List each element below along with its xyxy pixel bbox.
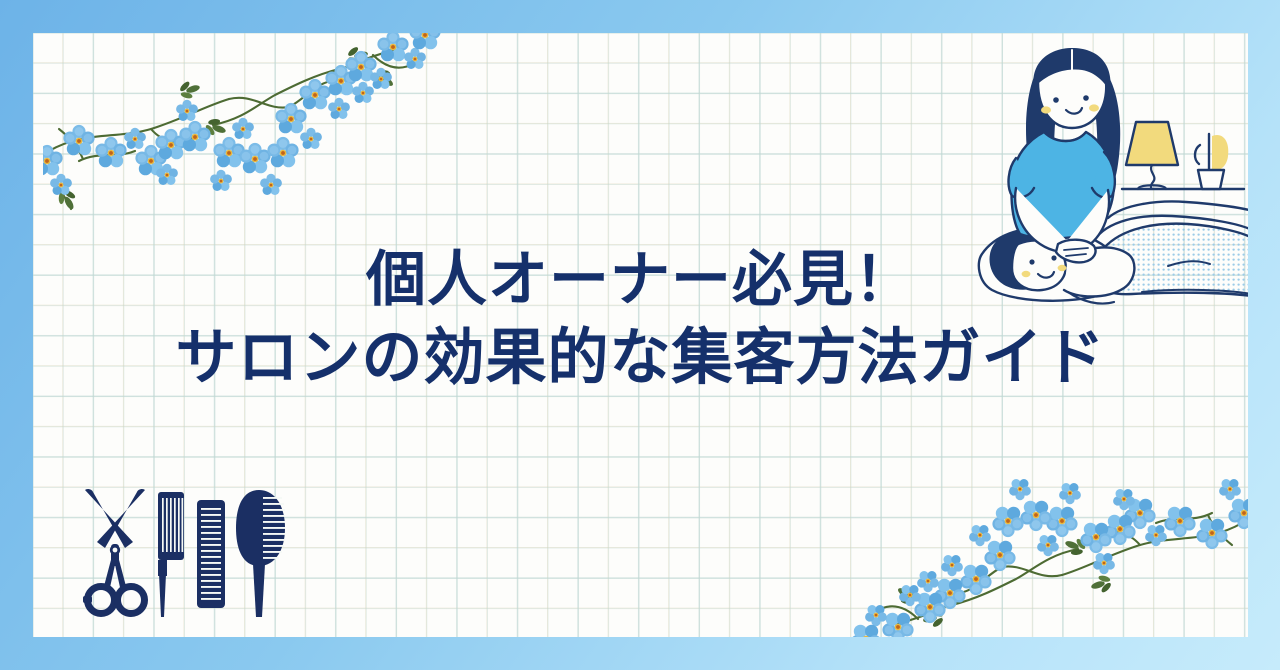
scissors-icon [83,489,145,614]
title-line-2: サロンの効果的な集客方法ガイド [33,319,1248,397]
banner-title: 個人オーナー必見！ サロンの効果的な集客方法ガイド [33,241,1248,397]
salon-guide-banner: 個人オーナー必見！ サロンの効果的な集客方法ガイド [0,0,1280,670]
salon-tools-icon [73,484,298,619]
wide-comb-icon [197,500,225,608]
grid-paper-panel: 個人オーナー必見！ サロンの効果的な集客方法ガイド [33,33,1248,637]
forget-me-not-flowers-top-left-icon [43,33,443,218]
title-line-1: 個人オーナー必見！ [33,241,1248,319]
tail-comb-icon [158,492,184,617]
forget-me-not-flowers-bottom-right-icon [848,451,1248,637]
paddle-brush-icon [236,490,285,617]
